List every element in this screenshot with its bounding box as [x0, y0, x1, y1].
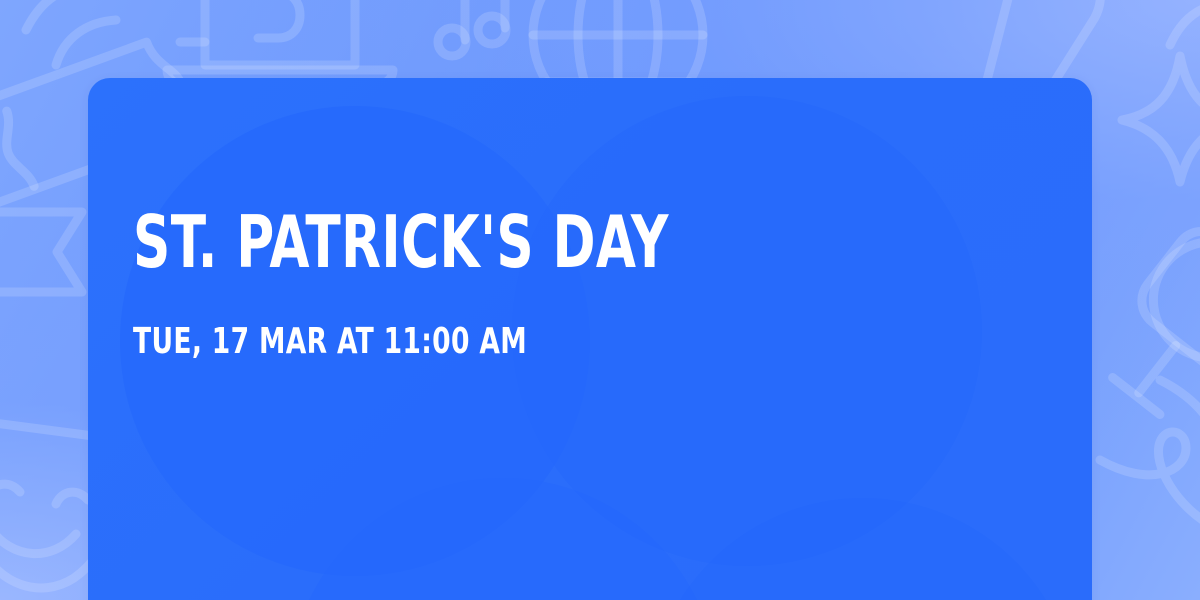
event-datetime: Tue, 17 Mar at 11:00 AM: [133, 278, 870, 360]
event-banner: St. Patrick's Day Tue, 17 Mar at 11:00 A…: [0, 0, 1200, 600]
event-title: St. Patrick's Day: [133, 206, 852, 278]
event-card: St. Patrick's Day Tue, 17 Mar at 11:00 A…: [88, 78, 1092, 600]
event-card-content: St. Patrick's Day Tue, 17 Mar at 11:00 A…: [133, 206, 1032, 360]
